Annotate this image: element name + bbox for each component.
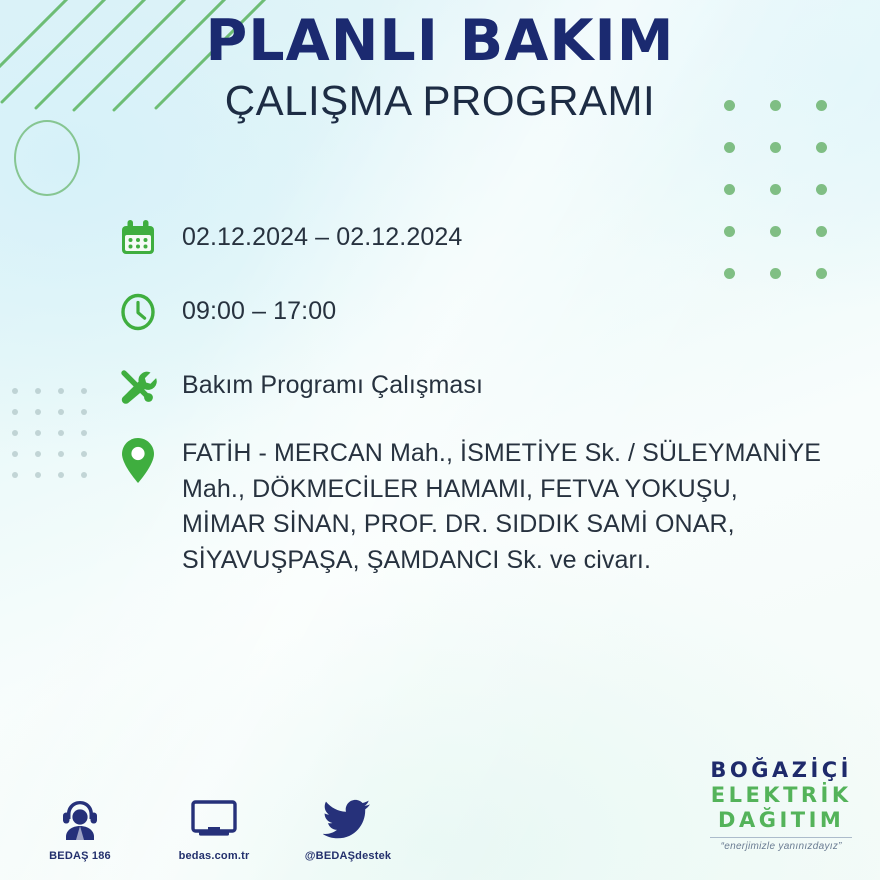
clock-icon <box>112 286 164 338</box>
info-list: 02.12.2024 – 02.12.2024 09:00 – 17:00 Ba… <box>112 212 872 578</box>
logo-line-1: BOĞAZİÇİ <box>710 760 852 781</box>
location-line-2: Mah., DÖKMECİLER HAMAMI, FETVA YOKUŞU, <box>182 472 821 508</box>
page-title: PLANLI BAKIM <box>0 12 880 72</box>
location-value: FATİH - MERCAN Mah., İSMETİYE Sk. / SÜLE… <box>164 434 821 578</box>
location-line-4: SİYAVUŞPAŞA, ŞAMDANCI Sk. ve civarı. <box>182 543 821 579</box>
page-header: PLANLI BAKIM ÇALIŞMA PROGRAMI <box>0 12 880 124</box>
info-row-work-type: Bakım Programı Çalışması <box>112 360 872 412</box>
support-agent-icon <box>34 789 126 843</box>
map-pin-icon <box>112 434 164 486</box>
date-value: 02.12.2024 – 02.12.2024 <box>164 212 462 256</box>
info-row-time: 09:00 – 17:00 <box>112 286 872 338</box>
contact-phone-label: BEDAŞ 186 <box>34 850 126 862</box>
contact-website-label: bedas.com.tr <box>168 850 260 862</box>
location-line-3: MİMAR SİNAN, PROF. DR. SIDDIK SAMİ ONAR, <box>182 507 821 543</box>
work-type-value: Bakım Programı Çalışması <box>164 360 483 404</box>
info-row-date: 02.12.2024 – 02.12.2024 <box>112 212 872 264</box>
logo-line-3: DAĞITIM <box>710 810 852 831</box>
time-value: 09:00 – 17:00 <box>164 286 336 330</box>
monitor-icon <box>168 789 260 843</box>
logo-line-2: ELEKTRİK <box>710 785 852 806</box>
contact-list: BEDAŞ 186 bedas.com.tr @BEDAŞdestek <box>34 789 394 862</box>
calendar-icon <box>112 212 164 264</box>
contact-website[interactable]: bedas.com.tr <box>168 789 260 862</box>
tools-icon <box>112 360 164 412</box>
contact-phone[interactable]: BEDAŞ 186 <box>34 789 126 862</box>
info-row-location: FATİH - MERCAN Mah., İSMETİYE Sk. / SÜLE… <box>112 434 872 578</box>
contact-twitter[interactable]: @BEDAŞdestek <box>302 789 394 862</box>
outline-circle-decoration <box>14 120 80 196</box>
bedas-logo: BOĞAZİÇİ ELEKTRİK DAĞITIM “enerjimizle y… <box>710 760 852 852</box>
dot-grid-left-decoration <box>12 388 104 493</box>
page-subtitle: ÇALIŞMA PROGRAMI <box>0 78 880 124</box>
logo-tagline: “enerjimizle yanınızdayız” <box>710 842 852 852</box>
contact-twitter-label: @BEDAŞdestek <box>302 850 394 862</box>
twitter-bird-icon <box>302 789 394 843</box>
location-line-1: FATİH - MERCAN Mah., İSMETİYE Sk. / SÜLE… <box>182 436 821 472</box>
logo-divider <box>710 837 852 838</box>
page-footer: BEDAŞ 186 bedas.com.tr @BEDAŞdestek BOĞA… <box>0 756 880 866</box>
